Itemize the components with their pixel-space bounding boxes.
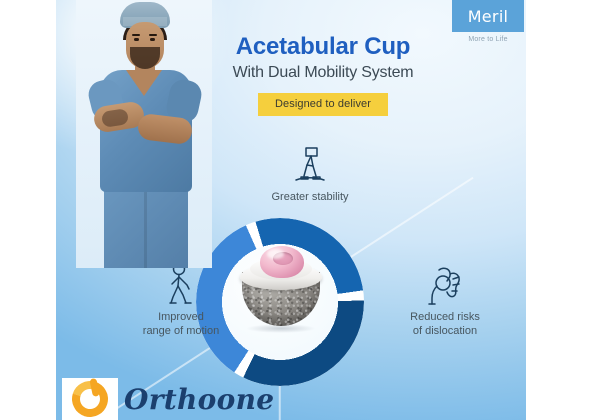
meril-brand-logo: Meril More to Life: [452, 0, 524, 43]
implant-head-highlight: [267, 249, 284, 259]
meril-logo-box: Meril: [452, 0, 524, 32]
feature-label-improved-line1: Improved: [158, 311, 204, 323]
walking-person-icon: [163, 262, 199, 306]
orange-ring-shape: [66, 375, 115, 420]
surgeon-brow-left: [132, 34, 140, 36]
surgeon-photo: [76, 0, 212, 268]
feature-improved-range-of-motion: Improved range of motion: [106, 262, 256, 339]
tagline-badge: Designed to deliver: [258, 93, 388, 116]
surgeon-eye-right: [150, 38, 155, 41]
page-subtitle: With Dual Mobility System: [178, 64, 468, 82]
orthoone-logo: Orthoone: [62, 378, 292, 420]
hip-joint-bone-icon: [423, 266, 467, 306]
feature-label-reduced-line1: Reduced risks: [410, 311, 480, 323]
surgeon-eye-left: [134, 38, 139, 41]
headline-block: Acetabular Cup With Dual Mobility System…: [178, 34, 468, 116]
surgeon-beard: [130, 47, 160, 69]
surgeon-brow-right: [149, 34, 157, 36]
page-title: Acetabular Cup: [178, 34, 468, 59]
ring-tail-shape: [89, 378, 100, 397]
feature-greater-stability: Greater stability: [232, 146, 388, 205]
feature-label-reduced-line2: of dislocation: [413, 325, 477, 337]
surgeon-face: [126, 22, 164, 69]
orthoone-o-ring-icon: [62, 378, 118, 420]
right-white-margin: [526, 0, 600, 420]
orthoone-wordmark: Orthoone: [124, 383, 274, 416]
poster-canvas: Acetabular Cup With Dual Mobility System…: [0, 0, 600, 420]
left-white-margin: [0, 0, 56, 420]
standing-legs-balance-icon: [292, 146, 328, 186]
feature-label-greater-stability: Greater stability: [271, 191, 348, 203]
meril-tagline: More to Life: [452, 36, 524, 43]
feature-label-improved-line2: range of motion: [143, 325, 219, 337]
surgeon-scrub-pants: [104, 186, 188, 268]
feature-reduced-risks-of-dislocation: Reduced risks of dislocation: [374, 266, 516, 339]
meril-logo-text: Meril: [468, 7, 509, 26]
